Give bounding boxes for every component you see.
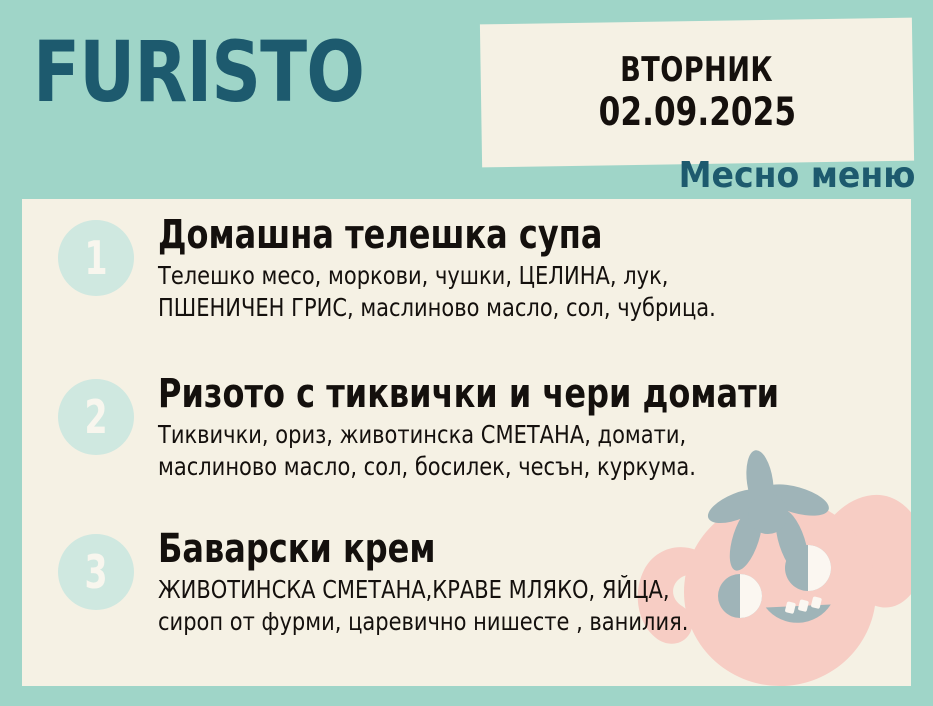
item-description-line: ПШЕНИЧЕН ГРИС, маслиново масло, сол, чуб… bbox=[158, 292, 780, 324]
date-day-label: ВТОРНИК bbox=[621, 50, 774, 90]
item-description-line: сироп от фурми, царевично нишесте , вани… bbox=[158, 606, 780, 638]
item-description-line: Тиквички, ориз, животинска СМЕТАНА, дома… bbox=[158, 419, 780, 451]
item-number-badge: 2 bbox=[58, 379, 134, 455]
brand-logo: FURISTO bbox=[33, 30, 364, 114]
menu-panel: 1 Домашна телешка супа Телешко месо, мор… bbox=[22, 199, 911, 686]
item-description-line: маслиново масло, сол, босилек, чесън, ку… bbox=[158, 451, 780, 483]
date-value: 02.09.2025 bbox=[598, 90, 795, 136]
item-description-line: ЖИВОТИНСКА СМЕТАНА,КРАВЕ МЛЯКО, ЯЙЦА, bbox=[158, 574, 780, 606]
item-description: Тиквички, ориз, животинска СМЕТАНА, дома… bbox=[158, 419, 780, 483]
item-title: Ризото с тиквички и чери домати bbox=[158, 371, 750, 417]
menu-poster: FURISTO ВТОРНИК 02.09.2025 Месно меню bbox=[0, 0, 933, 706]
item-number: 3 bbox=[84, 549, 107, 595]
item-description-line: Телешко месо, моркови, чушки, ЦЕЛИНА, лу… bbox=[158, 260, 780, 292]
item-description: ЖИВОТИНСКА СМЕТАНА,КРАВЕ МЛЯКО, ЯЙЦА, си… bbox=[158, 574, 780, 638]
item-number: 1 bbox=[84, 235, 107, 281]
date-card: ВТОРНИК 02.09.2025 bbox=[480, 18, 914, 168]
item-number-badge: 1 bbox=[58, 220, 134, 296]
item-body: Домашна телешка супа Телешко месо, морко… bbox=[158, 212, 898, 324]
menu-item-list: 1 Домашна телешка супа Телешко месо, мор… bbox=[22, 199, 911, 686]
item-description: Телешко месо, моркови, чушки, ЦЕЛИНА, лу… bbox=[158, 260, 780, 324]
item-title: Баварски крем bbox=[158, 526, 750, 572]
item-number-badge: 3 bbox=[58, 534, 134, 610]
poster-header: FURISTO ВТОРНИК 02.09.2025 Месно меню bbox=[0, 0, 933, 199]
item-title: Домашна телешка супа bbox=[158, 212, 750, 258]
item-body: Баварски крем ЖИВОТИНСКА СМЕТАНА,КРАВЕ М… bbox=[158, 526, 898, 638]
item-body: Ризото с тиквички и чери домати Тиквички… bbox=[158, 371, 898, 483]
menu-kind-label: Месно меню bbox=[678, 156, 915, 196]
item-number: 2 bbox=[84, 394, 107, 440]
